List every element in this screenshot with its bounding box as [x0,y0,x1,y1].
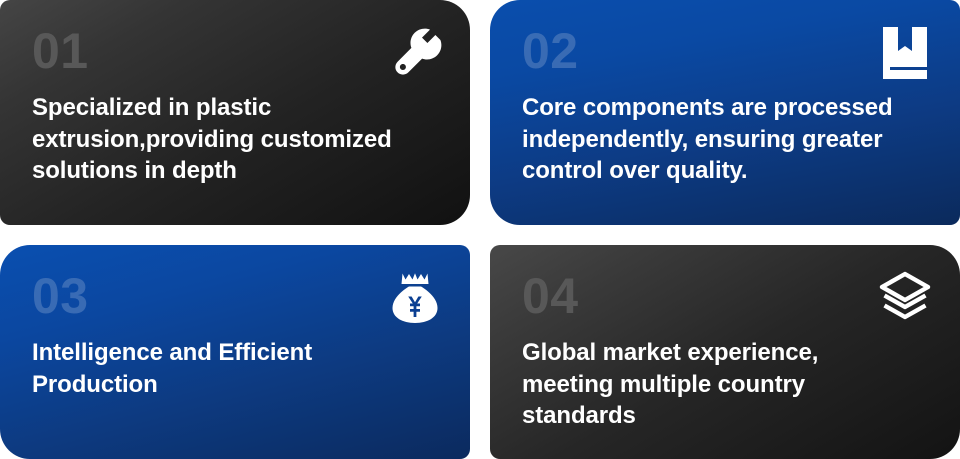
card-number: 03 [32,271,442,321]
feature-card-02[interactable]: 02 Core components are processed indepen… [490,0,960,225]
card-number: 02 [522,26,932,76]
feature-card-03[interactable]: 03 Intelligence and Efficient Production [0,245,470,459]
card-headline: Global market experience, meeting multip… [522,337,932,432]
card-headline: Intelligence and Efficient Production [32,337,412,400]
feature-card-04[interactable]: 04 Global market experience, meeting mul… [490,245,960,459]
feature-card-grid: 01 Specialized in plastic extrusion,prov… [0,0,960,459]
card-headline: Core components are processed independen… [522,92,932,187]
card-number: 04 [522,271,932,321]
feature-card-01[interactable]: 01 Specialized in plastic extrusion,prov… [0,0,470,225]
card-headline: Specialized in plastic extrusion,providi… [32,92,442,187]
card-number: 01 [32,26,442,76]
